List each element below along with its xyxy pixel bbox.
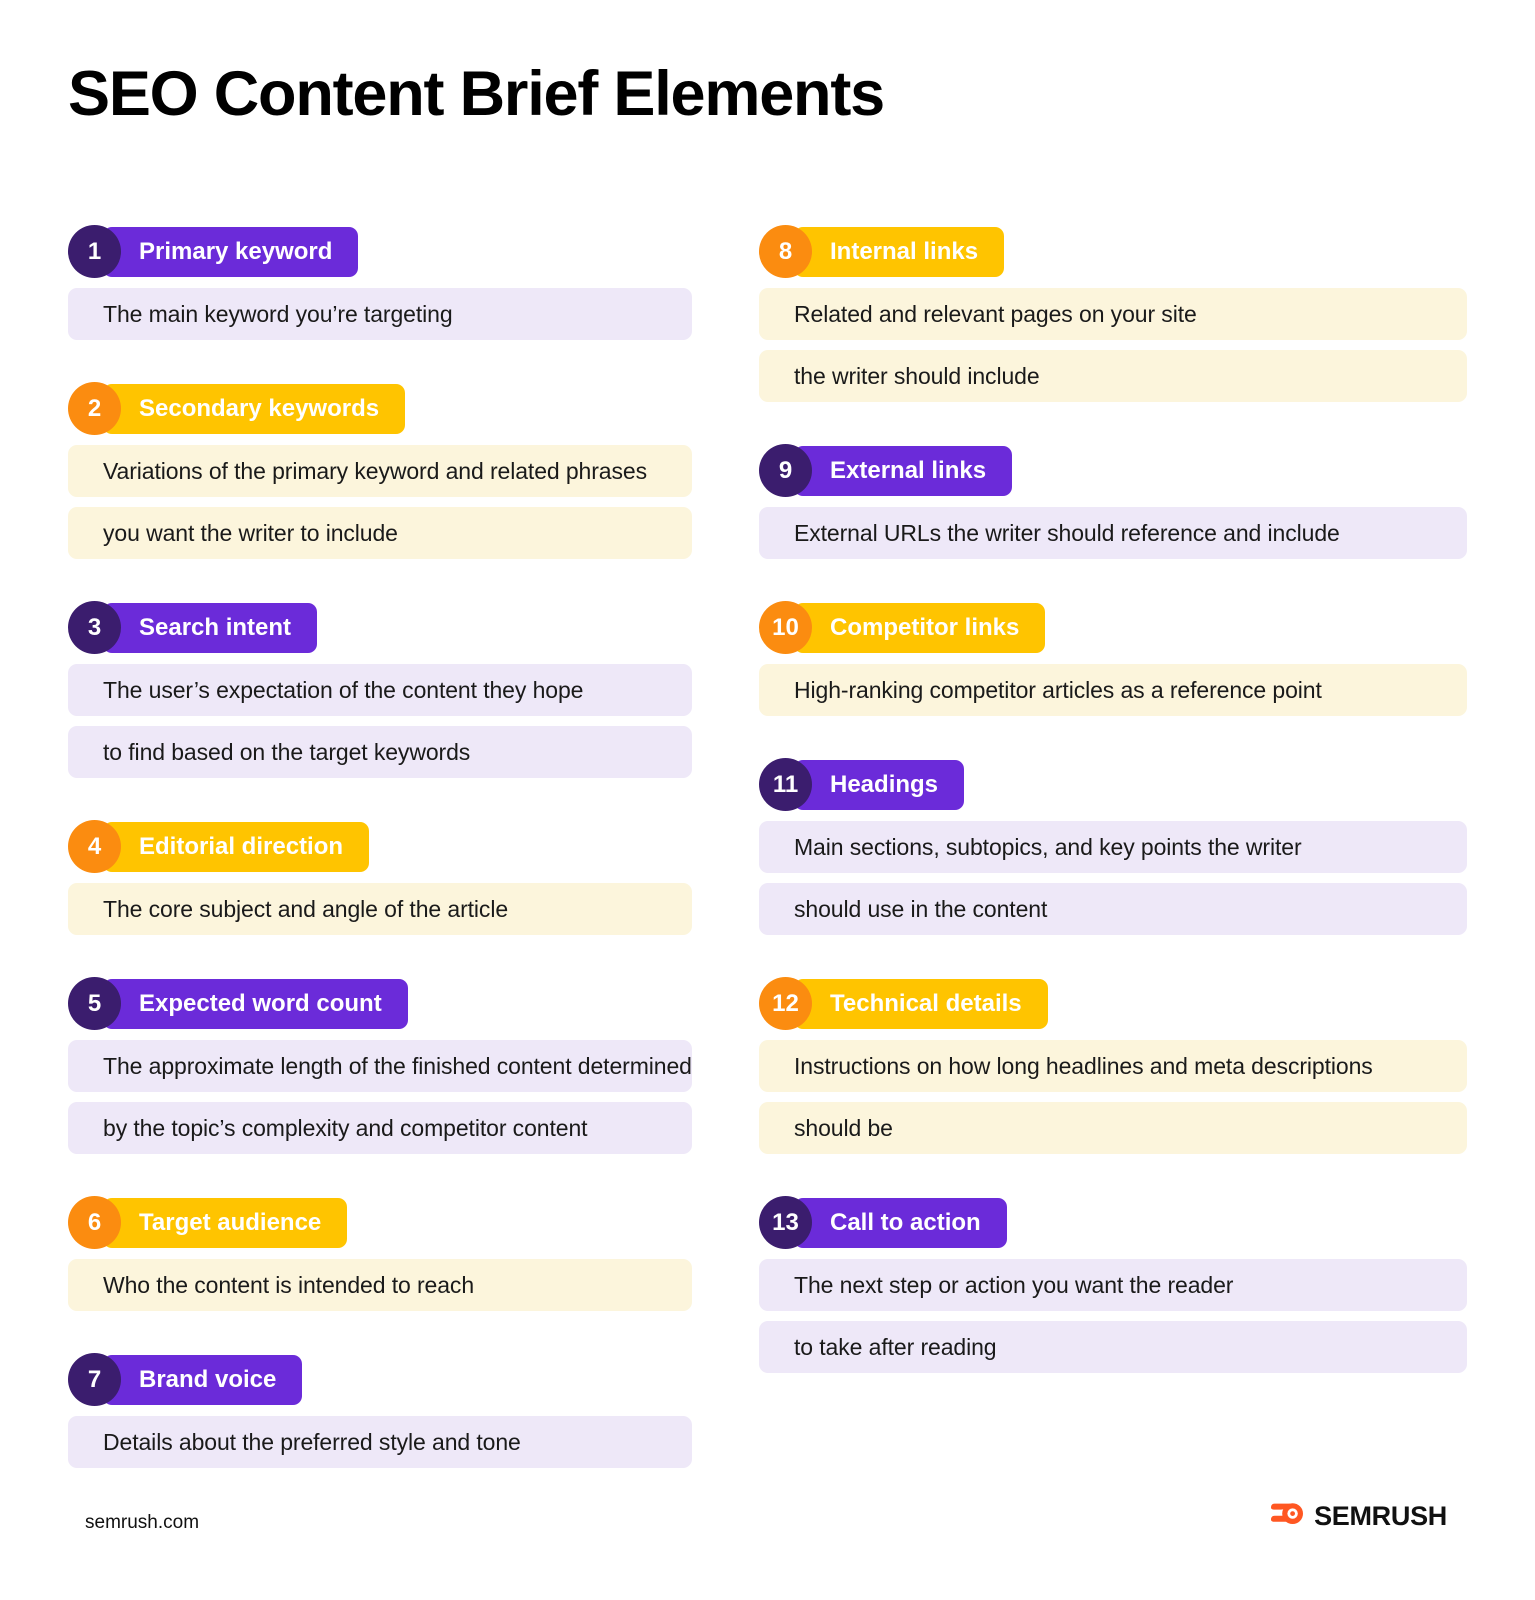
item-header: 8Internal links bbox=[759, 225, 1467, 278]
brief-element-item: 7Brand voiceDetails about the preferred … bbox=[68, 1353, 692, 1468]
item-number-badge: 6 bbox=[68, 1196, 121, 1249]
items-column-right: 8Internal linksRelated and relevant page… bbox=[692, 225, 1467, 1468]
item-number-badge: 11 bbox=[759, 758, 812, 811]
item-label-pill: Call to action bbox=[794, 1198, 1007, 1248]
brief-element-item: 3Search intentThe user’s expectation of … bbox=[68, 601, 692, 778]
item-label-pill: Target audience bbox=[103, 1198, 347, 1248]
brief-element-item: 1Primary keywordThe main keyword you’re … bbox=[68, 225, 692, 340]
item-description-line: Related and relevant pages on your site bbox=[759, 288, 1467, 340]
item-description-line: The main keyword you’re targeting bbox=[68, 288, 692, 340]
items-columns: 1Primary keywordThe main keyword you’re … bbox=[0, 225, 1535, 1468]
item-header: 5Expected word count bbox=[68, 977, 692, 1030]
item-label-pill: Primary keyword bbox=[103, 227, 358, 277]
item-header: 10Competitor links bbox=[759, 601, 1467, 654]
item-description-line: to take after reading bbox=[759, 1321, 1467, 1373]
item-description-line: should use in the content bbox=[759, 883, 1467, 935]
item-number-badge: 9 bbox=[759, 444, 812, 497]
item-description-line: External URLs the writer should referenc… bbox=[759, 507, 1467, 559]
item-header: 12Technical details bbox=[759, 977, 1467, 1030]
item-description-line: High-ranking competitor articles as a re… bbox=[759, 664, 1467, 716]
brief-element-item: 5Expected word countThe approximate leng… bbox=[68, 977, 692, 1154]
item-label-pill: Competitor links bbox=[794, 603, 1045, 653]
item-description-line: The approximate length of the finished c… bbox=[68, 1040, 692, 1092]
item-header: 6Target audience bbox=[68, 1196, 692, 1249]
item-label-pill: External links bbox=[794, 446, 1012, 496]
item-description-line: Who the content is intended to reach bbox=[68, 1259, 692, 1311]
item-header: 7Brand voice bbox=[68, 1353, 692, 1406]
brief-element-item: 6Target audienceWho the content is inten… bbox=[68, 1196, 692, 1311]
item-description-line: Instructions on how long headlines and m… bbox=[759, 1040, 1467, 1092]
item-header: 2Secondary keywords bbox=[68, 382, 692, 435]
brief-element-item: 8Internal linksRelated and relevant page… bbox=[759, 225, 1467, 402]
brief-element-item: 12Technical detailsInstructions on how l… bbox=[759, 977, 1467, 1154]
item-number-badge: 3 bbox=[68, 601, 121, 654]
brief-element-item: 2Secondary keywordsVariations of the pri… bbox=[68, 382, 692, 559]
semrush-logo-icon bbox=[1270, 1500, 1304, 1533]
item-label-pill: Brand voice bbox=[103, 1355, 302, 1405]
page-title: SEO Content Brief Elements bbox=[68, 60, 884, 129]
item-label-pill: Technical details bbox=[794, 979, 1048, 1029]
item-number-badge: 10 bbox=[759, 601, 812, 654]
item-number-badge: 2 bbox=[68, 382, 121, 435]
item-number-badge: 12 bbox=[759, 977, 812, 1030]
item-number-badge: 13 bbox=[759, 1196, 812, 1249]
brief-element-item: 9External linksExternal URLs the writer … bbox=[759, 444, 1467, 559]
item-description-line: by the topic’s complexity and competitor… bbox=[68, 1102, 692, 1154]
brief-element-item: 13Call to actionThe next step or action … bbox=[759, 1196, 1467, 1373]
item-description-line: to find based on the target keywords bbox=[68, 726, 692, 778]
brief-element-item: 4Editorial directionThe core subject and… bbox=[68, 820, 692, 935]
item-number-badge: 1 bbox=[68, 225, 121, 278]
item-header: 13Call to action bbox=[759, 1196, 1467, 1249]
brand-logo: SEMRUSH bbox=[1270, 1500, 1447, 1533]
item-label-pill: Search intent bbox=[103, 603, 317, 653]
item-label-pill: Expected word count bbox=[103, 979, 408, 1029]
items-column-left: 1Primary keywordThe main keyword you’re … bbox=[0, 225, 692, 1468]
brief-element-item: 10Competitor linksHigh-ranking competito… bbox=[759, 601, 1467, 716]
item-header: 9External links bbox=[759, 444, 1467, 497]
footer: semrush.com SEMRUSH bbox=[0, 1490, 1535, 1600]
item-description-line: The core subject and angle of the articl… bbox=[68, 883, 692, 935]
infographic-page: SEO Content Brief Elements 1Primary keyw… bbox=[0, 0, 1535, 1600]
item-number-badge: 4 bbox=[68, 820, 121, 873]
item-label-pill: Internal links bbox=[794, 227, 1004, 277]
item-description-line: you want the writer to include bbox=[68, 507, 692, 559]
brand-name: SEMRUSH bbox=[1314, 1501, 1447, 1532]
item-description-line: Variations of the primary keyword and re… bbox=[68, 445, 692, 497]
item-description-line: should be bbox=[759, 1102, 1467, 1154]
item-header: 4Editorial direction bbox=[68, 820, 692, 873]
item-header: 11Headings bbox=[759, 758, 1467, 811]
item-description-line: The next step or action you want the rea… bbox=[759, 1259, 1467, 1311]
item-label-pill: Editorial direction bbox=[103, 822, 369, 872]
item-number-badge: 5 bbox=[68, 977, 121, 1030]
footer-url: semrush.com bbox=[85, 1512, 199, 1534]
item-description-line: the writer should include bbox=[759, 350, 1467, 402]
item-number-badge: 7 bbox=[68, 1353, 121, 1406]
item-description-line: Details about the preferred style and to… bbox=[68, 1416, 692, 1468]
item-label-pill: Headings bbox=[794, 760, 964, 810]
item-number-badge: 8 bbox=[759, 225, 812, 278]
item-description-line: Main sections, subtopics, and key points… bbox=[759, 821, 1467, 873]
item-label-pill: Secondary keywords bbox=[103, 384, 405, 434]
brief-element-item: 11HeadingsMain sections, subtopics, and … bbox=[759, 758, 1467, 935]
item-header: 3Search intent bbox=[68, 601, 692, 654]
item-description-line: The user’s expectation of the content th… bbox=[68, 664, 692, 716]
item-header: 1Primary keyword bbox=[68, 225, 692, 278]
